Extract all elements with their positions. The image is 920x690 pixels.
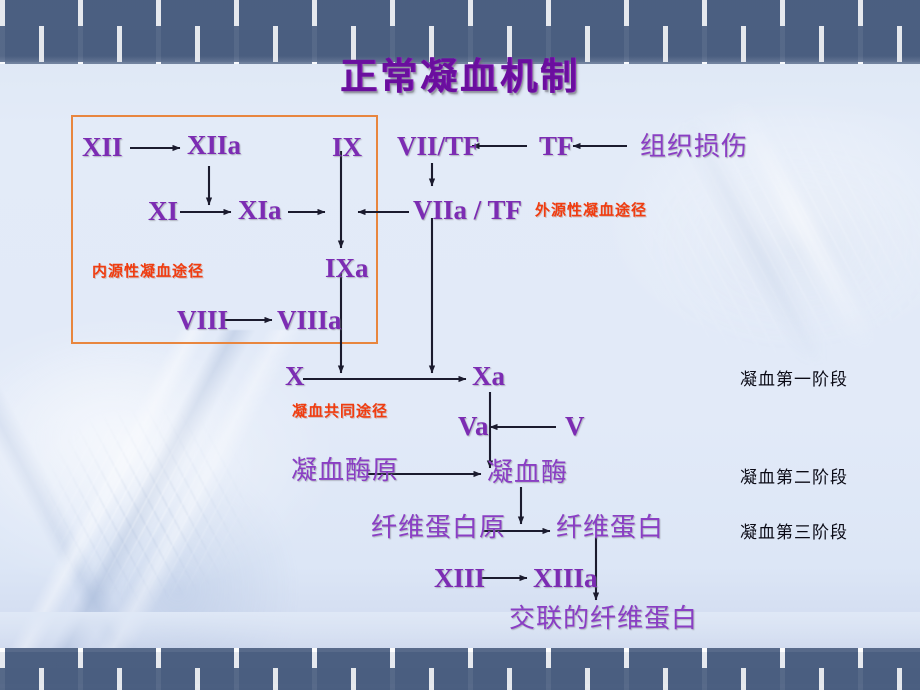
label-stage-three: 凝血第三阶段 (740, 518, 848, 543)
node-crosslinked-fibrin: 交联的纤维蛋白 (509, 606, 698, 632)
label-intrinsic-pathway: 内源性凝血途径 (92, 260, 204, 281)
node-factor-viii: VIII (177, 307, 228, 334)
node-factor-xii: XII (82, 134, 123, 161)
label-extrinsic-pathway: 外源性凝血途径 (535, 199, 647, 220)
coagulation-cascade-diagram: XII XIIa XI XIa IX IXa VIII VIIIa VII/TF… (0, 0, 920, 690)
node-tissue-factor: TF (539, 133, 574, 160)
node-tissue-injury: 组织损伤 (640, 134, 748, 160)
node-factor-v: V (565, 413, 585, 440)
node-factor-xiia: XIIa (187, 132, 241, 159)
node-factor-xi: XI (148, 198, 178, 225)
node-factor-viia-tf: VIIa / TF (413, 197, 522, 224)
node-prothrombin: 凝血酶原 (291, 458, 399, 484)
node-thrombin: 凝血酶 (487, 460, 568, 486)
node-factor-xia: XIa (238, 197, 282, 224)
slide-canvas: 正常凝血机制 (0, 0, 920, 690)
node-factor-vii-tf: VII/TF (397, 133, 480, 160)
label-stage-two: 凝血第二阶段 (740, 463, 848, 488)
node-factor-ix: IX (332, 134, 362, 161)
node-factor-va: Va (458, 413, 489, 440)
node-factor-viiia: VIIIa (277, 307, 342, 334)
node-factor-ixa: IXa (325, 255, 369, 282)
node-factor-xiiia: XIIIa (533, 565, 598, 592)
label-common-pathway: 凝血共同途径 (292, 400, 388, 421)
node-factor-x: X (285, 363, 305, 390)
node-fibrin: 纤维蛋白 (556, 515, 664, 541)
node-fibrinogen: 纤维蛋白原 (371, 515, 506, 541)
node-factor-xiii: XIII (434, 565, 485, 592)
node-factor-xa: Xa (472, 363, 505, 390)
label-stage-one: 凝血第一阶段 (740, 365, 848, 390)
